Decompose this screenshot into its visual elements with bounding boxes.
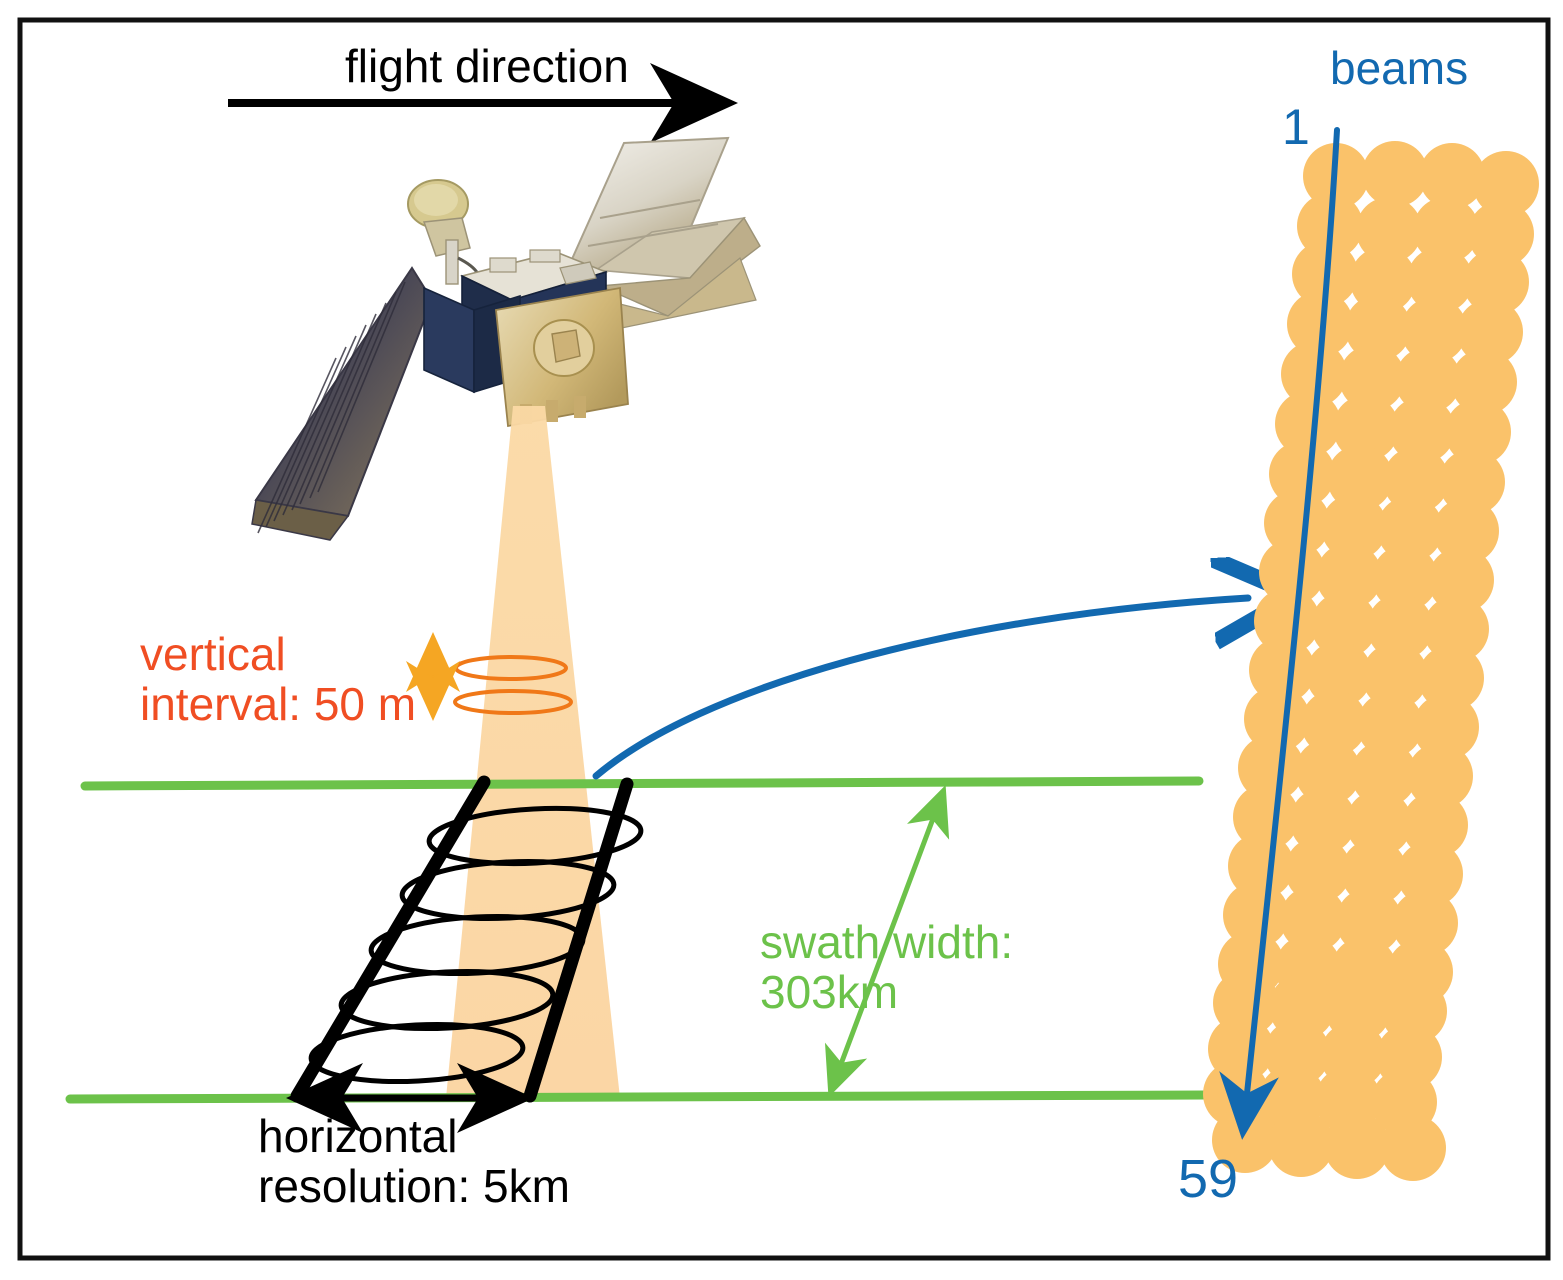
beam-first-index-label: 1 — [1282, 100, 1310, 154]
vertical-interval-label: vertical interval: 50 m — [140, 630, 416, 729]
beams-label: beams — [1330, 44, 1468, 94]
beam-cone — [446, 406, 620, 1098]
beam-last-index-label: 59 — [1178, 1150, 1238, 1208]
swath-line-top — [85, 781, 1199, 786]
swath-width-label: swath width: 303km — [760, 918, 1013, 1017]
flight-direction-label: flight direction — [345, 42, 629, 92]
figure-canvas: flight direction vertical interval: 50 m… — [0, 0, 1563, 1280]
horizontal-resolution-label: horizontal resolution: 5km — [258, 1112, 570, 1211]
beam-callout-arrow — [596, 598, 1248, 776]
swath-line-bottom — [70, 1095, 1205, 1099]
